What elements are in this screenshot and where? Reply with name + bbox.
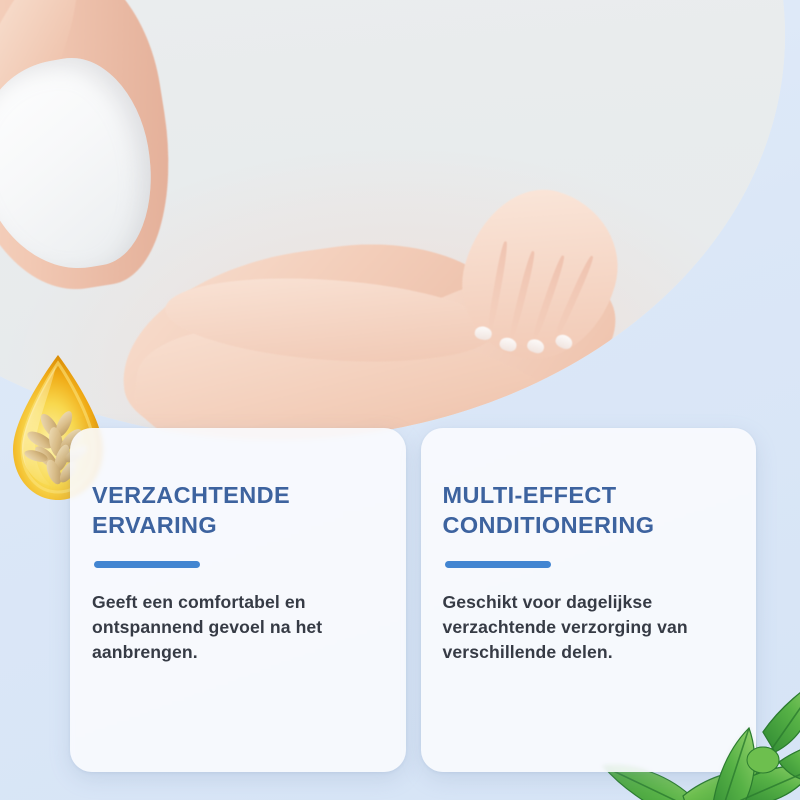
feature-card-verzachtende-ervaring[interactable]: VERZACHTENDE ERVARING Geeft een comforta…	[70, 428, 406, 772]
mint-leaves-foreground	[563, 636, 800, 800]
promo-graphic: VERZACHTENDE ERVARING Geeft een comforta…	[0, 0, 800, 800]
card-title: VERZACHTENDE ERVARING	[92, 480, 382, 540]
hero-photo-circle	[0, 0, 785, 440]
card-body: Geeft een comfortabel en ontspannend gev…	[92, 590, 382, 664]
card-title: MULTI-EFFECT CONDITIONERING	[443, 480, 733, 540]
accent-rule	[94, 561, 200, 568]
accent-rule	[445, 561, 551, 568]
